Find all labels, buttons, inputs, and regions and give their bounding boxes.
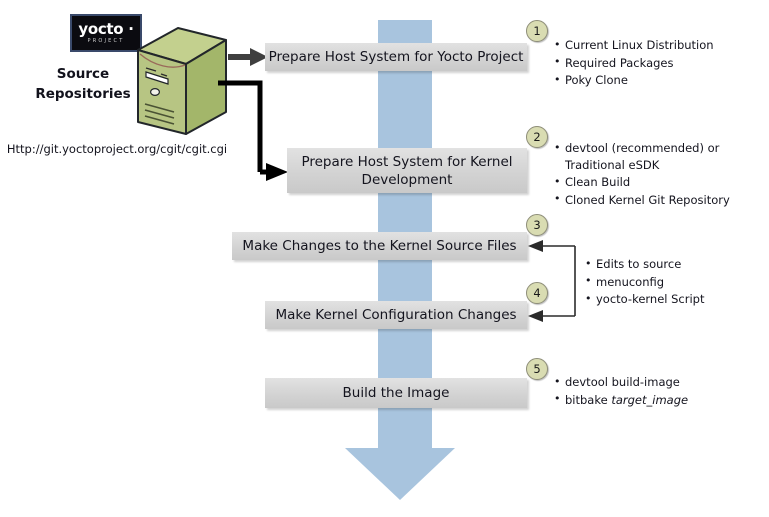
list-item-line-2: Traditional eSDK (565, 157, 758, 174)
step-box-prepare-host-yocto[interactable]: Prepare Host System for Yocto Project (265, 43, 527, 71)
step-1-notes-list: Current Linux Distribution Required Pack… (553, 37, 758, 90)
step-badge-4-number: 4 (533, 286, 540, 300)
step-badge-1: 1 (526, 20, 548, 42)
server-tower-icon (134, 26, 230, 138)
list-item: Edits to source (584, 256, 764, 273)
yocto-logo-subtext: PROJECT (87, 39, 124, 44)
step-badge-2-number: 2 (533, 130, 540, 144)
diagram-canvas: yocto · PROJECT Source Repositories Http… (0, 0, 769, 517)
step-badge-2: 2 (526, 126, 548, 148)
step-badge-5-number: 5 (533, 362, 540, 376)
step-box-3-label: Make Changes to the Kernel Source Files (242, 237, 516, 255)
list-item-text: bitbake (565, 393, 611, 407)
step-box-5-label: Build the Image (343, 384, 450, 402)
source-repositories-label: Source Repositories (22, 64, 144, 104)
list-item: bitbake target_image (553, 392, 758, 409)
list-item: yocto-kernel Script (584, 291, 764, 308)
yocto-logo-wordmark: yocto · (78, 22, 133, 37)
step-box-build-image[interactable]: Build the Image (265, 378, 527, 408)
step-box-make-kernel-config-changes[interactable]: Make Kernel Configuration Changes (265, 301, 527, 329)
list-item-line-1: devtool (recommended) or (565, 141, 719, 155)
step-badge-3: 3 (526, 214, 548, 236)
step-badge-4: 4 (526, 282, 548, 304)
list-item: Current Linux Distribution (553, 37, 758, 54)
flow-arrow-head-icon (345, 448, 455, 500)
step-5-notes-list: devtool build-image bitbake target_image (553, 374, 758, 409)
step-box-2-line-1: Prepare Host System for Kernel (301, 154, 512, 170)
list-item: menuconfig (584, 274, 764, 291)
source-label-line-2: Repositories (22, 84, 144, 104)
step-badge-1-number: 1 (533, 24, 540, 38)
step-badge-5: 5 (526, 358, 548, 380)
step-box-2-label: Prepare Host System for Kernel Developme… (301, 153, 512, 189)
list-item: Clean Build (553, 174, 758, 191)
list-item-emphasis: target_image (611, 393, 688, 407)
list-item-text: devtool build-image (565, 375, 680, 389)
step-badge-3-number: 3 (533, 218, 540, 232)
step-3-4-notes-list: Edits to source menuconfig yocto-kernel … (584, 256, 764, 309)
source-label-line-1: Source (22, 64, 144, 84)
source-repository-url: Http://git.yoctoproject.org/cgit/cgit.cg… (2, 142, 232, 156)
connector-server-to-step1 (228, 48, 268, 66)
step-box-4-label: Make Kernel Configuration Changes (275, 306, 516, 324)
list-item: Cloned Kernel Git Repository (553, 192, 758, 209)
step-box-2-line-2: Development (362, 172, 453, 188)
connector-notes-to-step3-step4 (528, 240, 575, 322)
list-item: devtool (recommended) or Traditional eSD… (553, 140, 758, 173)
list-item: devtool build-image (553, 374, 758, 391)
step-box-1-label: Prepare Host System for Yocto Project (269, 48, 524, 66)
step-box-prepare-host-kernel[interactable]: Prepare Host System for Kernel Developme… (287, 148, 527, 193)
yocto-project-logo: yocto · PROJECT (70, 14, 142, 52)
step-box-make-kernel-source-changes[interactable]: Make Changes to the Kernel Source Files (232, 232, 527, 260)
list-item: Poky Clone (553, 72, 758, 89)
step-2-notes-list: devtool (recommended) or Traditional eSD… (553, 140, 758, 209)
list-item: Required Packages (553, 55, 758, 72)
